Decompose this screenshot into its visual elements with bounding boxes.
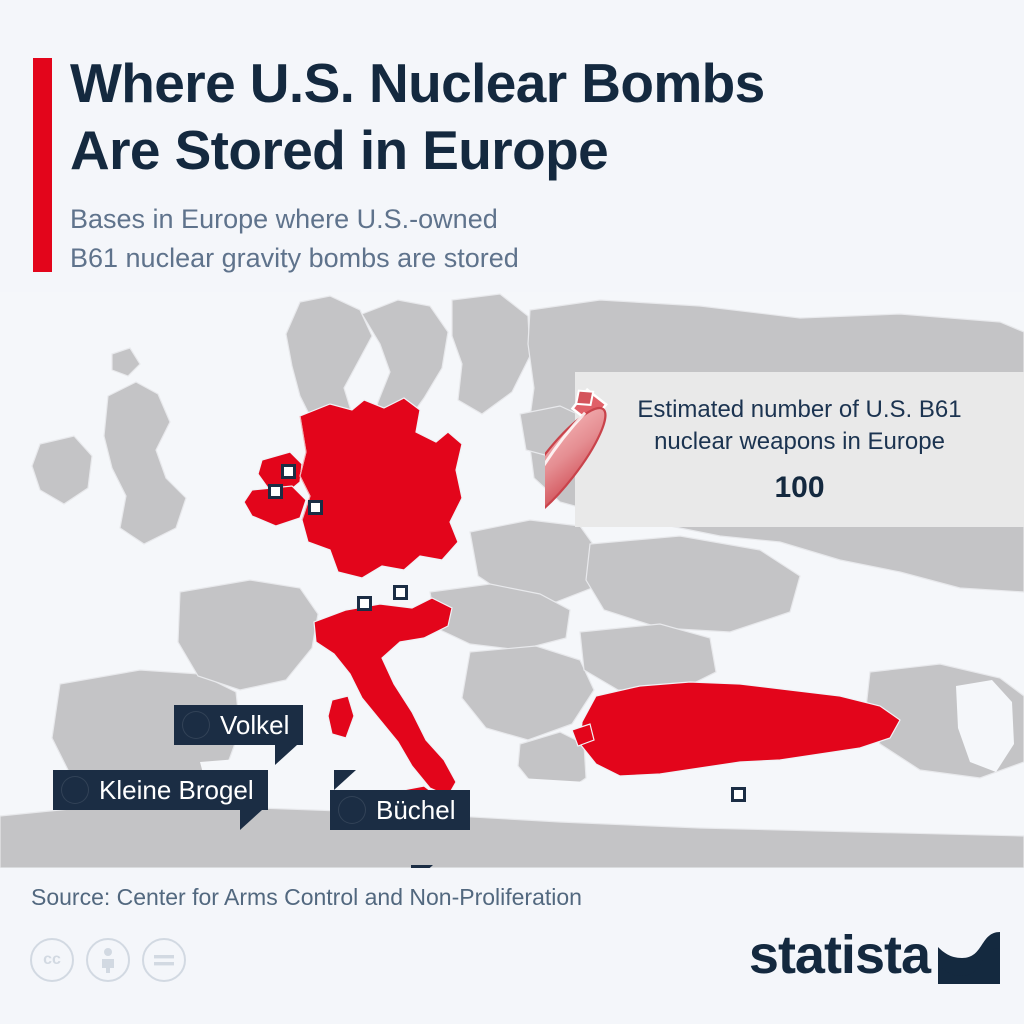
accent-bar xyxy=(33,58,52,272)
infographic-root: Where U.S. Nuclear Bombs Are Stored in E… xyxy=(0,0,1024,1024)
marker-volkel[interactable] xyxy=(281,464,296,479)
creative-commons-badges: cc xyxy=(30,938,186,982)
map-label-text: Kleine Brogel xyxy=(99,775,254,806)
europe-map: Estimated number of U.S. B61 nuclear wea… xyxy=(0,292,1024,868)
source-text: Source: Center for Arms Control and Non-… xyxy=(31,884,582,911)
map-label-kleine-brogel[interactable]: Kleine Brogel xyxy=(53,770,268,810)
map-label-volkel[interactable]: Volkel xyxy=(174,705,303,745)
person-glyph xyxy=(98,947,118,973)
label-pointer-tail xyxy=(275,745,297,765)
map-label-buchel[interactable]: Büchel xyxy=(330,790,470,830)
map-label-text: Volkel xyxy=(220,710,289,741)
page-title: Where U.S. Nuclear Bombs Are Stored in E… xyxy=(70,50,950,184)
header: Where U.S. Nuclear Bombs Are Stored in E… xyxy=(0,0,1024,292)
title-line-1: Where U.S. Nuclear Bombs xyxy=(70,50,950,117)
marker-kleine-brogel[interactable] xyxy=(268,484,283,499)
marker-aviano[interactable] xyxy=(393,585,408,600)
label-pointer-tail xyxy=(334,770,356,790)
statista-mark-icon xyxy=(938,926,1000,984)
marker-incirlik[interactable] xyxy=(731,787,746,802)
belgium-flag-icon xyxy=(61,776,89,804)
statista-logo[interactable]: statista xyxy=(749,926,1000,984)
title-line-2: Are Stored in Europe xyxy=(70,117,950,184)
map-label-text: Büchel xyxy=(376,795,456,826)
marker-ghedi[interactable] xyxy=(357,596,372,611)
label-pointer-tail xyxy=(240,810,262,830)
cc-by-person-icon xyxy=(86,938,130,982)
cc-nd-equals-icon xyxy=(142,938,186,982)
subtitle-line-1: Bases in Europe where U.S.-owned xyxy=(70,200,770,239)
page-subtitle: Bases in Europe where U.S.-owned B61 nuc… xyxy=(70,200,770,278)
subtitle-line-2: B61 nuclear gravity bombs are stored xyxy=(70,239,770,278)
info-box-value: 100 xyxy=(774,471,824,505)
equals-glyph xyxy=(153,952,175,968)
statista-wordmark: statista xyxy=(749,928,930,982)
footer: Source: Center for Arms Control and Non-… xyxy=(0,868,1024,1024)
germany-flag-icon xyxy=(338,796,366,824)
nuclear-bomb-icon xyxy=(545,387,705,537)
cc-icon: cc xyxy=(30,938,74,982)
marker-buchel[interactable] xyxy=(308,500,323,515)
netherlands-flag-icon xyxy=(182,711,210,739)
